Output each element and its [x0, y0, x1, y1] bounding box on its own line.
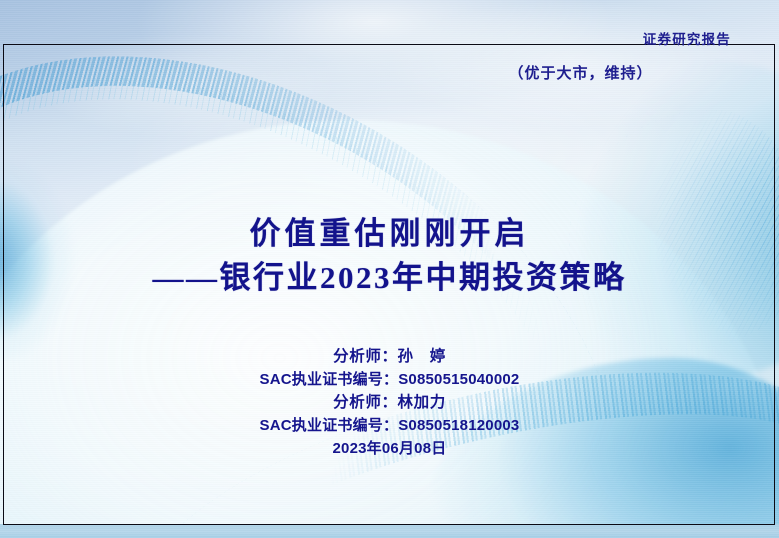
- investment-rating-label: （优于大市，维持）: [0, 62, 779, 83]
- bottom-color-strip: [0, 524, 779, 538]
- analyst-name-secondary: 分析师：林加力: [0, 391, 779, 415]
- report-date: 2023年06月08日: [0, 438, 779, 461]
- report-type-label: 证券研究报告: [643, 28, 731, 48]
- page-title: 价值重估刚刚开启: [0, 216, 779, 253]
- analyst-sac-primary: SAC执业证书编号：S0850515040002: [0, 369, 779, 392]
- analyst-sac-secondary: SAC执业证书编号：S0850518120003: [0, 415, 779, 438]
- analyst-name-primary: 分析师：孙 婷: [0, 345, 779, 369]
- analyst-info-block: 分析师：孙 婷 SAC执业证书编号：S0850515040002 分析师：林加力…: [0, 345, 779, 460]
- report-title-block: 价值重估刚刚开启 ——银行业2023年中期投资策略: [0, 216, 779, 297]
- page-subtitle: ——银行业2023年中期投资策略: [0, 259, 779, 297]
